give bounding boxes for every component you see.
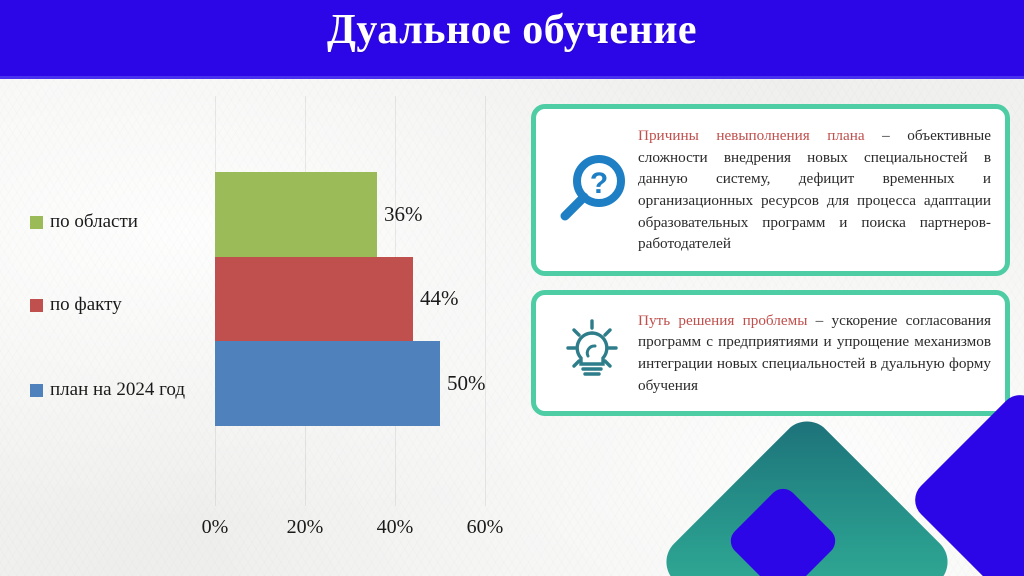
svg-text:?: ? xyxy=(590,167,608,200)
legend-label-2: план на 2024 год xyxy=(50,379,185,401)
bar-2 xyxy=(215,341,440,426)
legend-item-1: по факту xyxy=(30,294,122,316)
bar-row-0: 36% xyxy=(215,172,515,257)
card-reasons-lead: Причины невыполнения плана xyxy=(638,127,865,144)
bar-value-0: 36% xyxy=(384,202,423,227)
bar-0 xyxy=(215,172,377,257)
bar-1 xyxy=(215,257,413,342)
card-reasons: ? Причины невыполнения плана – объективн… xyxy=(531,104,1010,276)
bar-value-1: 44% xyxy=(420,286,459,311)
card-solution-text: Путь решения проблемы – ускорение соглас… xyxy=(638,310,991,396)
card-solution-lead: Путь решения проблемы xyxy=(638,312,807,329)
bar-value-2: 50% xyxy=(447,371,486,396)
legend-swatch-0 xyxy=(30,216,43,229)
bar-row-1: 44% xyxy=(215,257,515,342)
blue-diamond-decoration-small xyxy=(725,483,841,576)
legend-label-1: по факту xyxy=(50,294,122,316)
xtick-0: 0% xyxy=(202,516,229,539)
legend-item-0: по области xyxy=(30,211,138,233)
legend-label-0: по области xyxy=(50,211,138,233)
bar-chart: по области по факту план на 2024 год 36%… xyxy=(0,86,520,546)
card-solution: Путь решения проблемы – ускорение соглас… xyxy=(531,290,1010,416)
card-reasons-body: – объективные сложности внедрения новых … xyxy=(638,127,991,252)
lightbulb-icon xyxy=(546,316,638,390)
xtick-2: 40% xyxy=(377,516,414,539)
teal-diamond-decoration xyxy=(656,411,959,576)
xtick-3: 60% xyxy=(467,516,504,539)
bar-row-2: 50% xyxy=(215,341,515,426)
legend-item-2: план на 2024 год xyxy=(30,379,185,401)
title-bar-underline xyxy=(0,76,1024,79)
card-reasons-text: Причины невыполнения плана – объективные… xyxy=(638,125,991,254)
plot-area: 36% 44% 50% xyxy=(215,172,515,426)
slide-canvas: Дуальное обучение по области по факту пл… xyxy=(0,0,1024,576)
xtick-1: 20% xyxy=(287,516,324,539)
page-title: Дуальное обучение xyxy=(0,6,1024,54)
legend-swatch-1 xyxy=(30,299,43,312)
magnifier-question-icon: ? xyxy=(546,151,638,229)
legend-swatch-2 xyxy=(30,384,43,397)
